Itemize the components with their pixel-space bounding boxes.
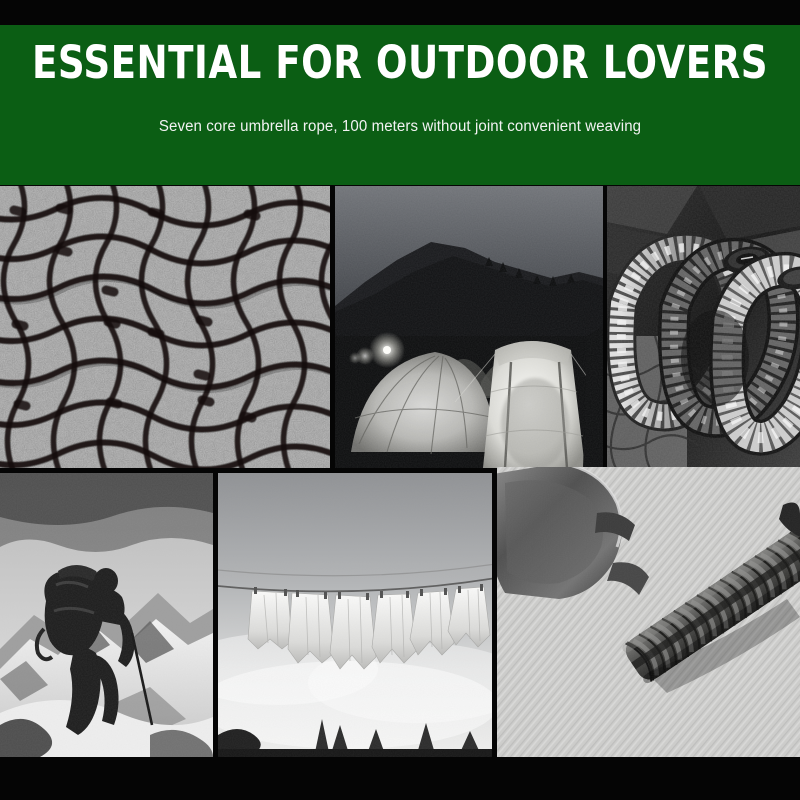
page-title: ESSENTIAL FOR OUTDOOR LOVERS bbox=[32, 38, 768, 88]
tent-photo bbox=[335, 186, 603, 468]
gallery-tile-clothes[interactable]: Cool clothes rope bbox=[218, 473, 492, 757]
bracelet-photo bbox=[607, 186, 800, 468]
gallery-tile-handle[interactable]: The handle bundling bbox=[497, 467, 800, 757]
gallery-tile-wilderness[interactable]: Wilderness survival bbox=[0, 473, 213, 757]
gallery-tile-tent[interactable]: Tent rope wind bbox=[335, 186, 603, 468]
netting-photo bbox=[0, 186, 330, 468]
gallery-tile-netting[interactable]: netting bbox=[0, 186, 330, 468]
page-subtitle: Seven core umbrella rope, 100 meters wit… bbox=[12, 118, 788, 136]
product-infographic: ESSENTIAL FOR OUTDOOR LOVERS Seven core … bbox=[0, 0, 800, 800]
wilderness-photo bbox=[0, 473, 213, 757]
handle-photo bbox=[497, 467, 800, 757]
clothesline-photo bbox=[218, 473, 492, 757]
gallery-tile-bracelet[interactable]: The rope bracelet bbox=[607, 186, 800, 468]
